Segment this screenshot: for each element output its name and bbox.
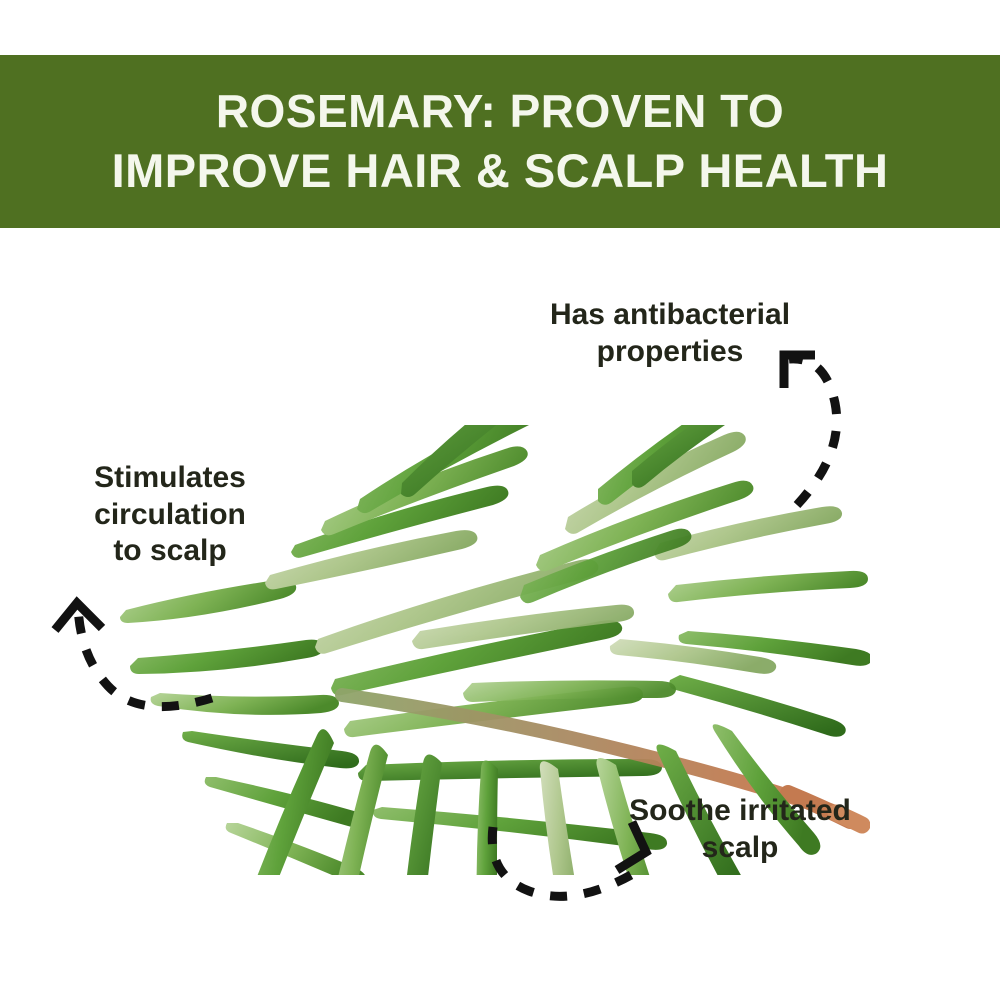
- annotation-soothe-line-2: scalp: [580, 830, 900, 867]
- annotation-circulation-line-1: Stimulates: [40, 460, 300, 497]
- annotation-circulation-line-2: circulation: [40, 497, 300, 534]
- annotation-label-soothe: Soothe irritated scalp: [580, 793, 900, 866]
- annotation-antibacterial-line-1: Has antibacterial: [500, 297, 840, 334]
- infographic-canvas: ROSEMARY: PROVEN TO IMPROVE HAIR & SCALP…: [0, 0, 1000, 1000]
- annotation-antibacterial-line-2: properties: [500, 334, 840, 371]
- header-banner: ROSEMARY: PROVEN TO IMPROVE HAIR & SCALP…: [0, 55, 1000, 228]
- annotation-label-circulation: Stimulates circulation to scalp: [40, 460, 300, 570]
- annotation-circulation-line-3: to scalp: [40, 533, 300, 570]
- annotation-soothe-line-1: Soothe irritated: [580, 793, 900, 830]
- header-title-line-1: ROSEMARY: PROVEN TO: [216, 82, 784, 141]
- header-title-line-2: IMPROVE HAIR & SCALP HEALTH: [112, 141, 889, 201]
- annotation-label-antibacterial: Has antibacterial properties: [500, 297, 840, 370]
